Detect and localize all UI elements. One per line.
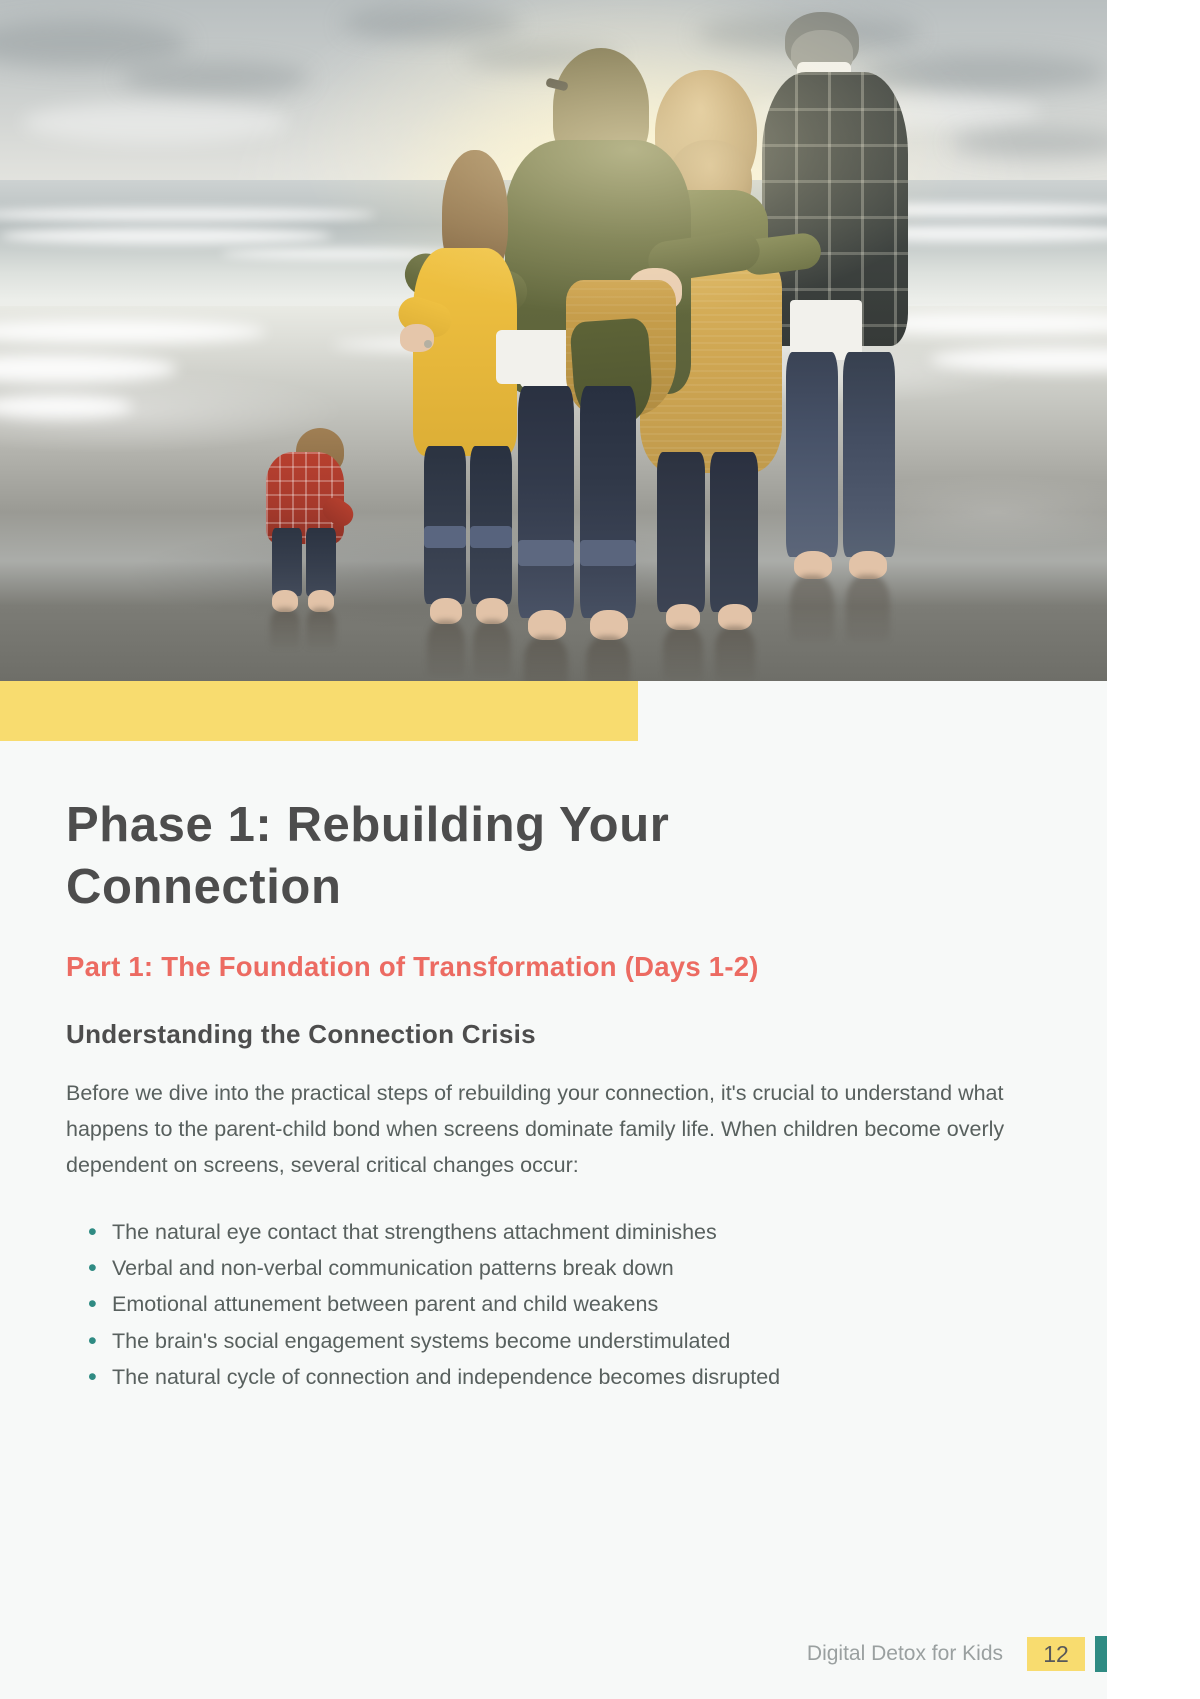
content-area: Phase 1: Rebuilding Your Connection Part… bbox=[66, 795, 1041, 1395]
page-sheet: Phase 1: Rebuilding Your Connection Part… bbox=[0, 0, 1107, 1699]
footer-book-title: Digital Detox for Kids bbox=[807, 1642, 1003, 1666]
list-item: The natural cycle of connection and inde… bbox=[88, 1359, 1041, 1395]
jeans-left bbox=[518, 386, 574, 618]
reflection bbox=[524, 636, 568, 681]
jeans-right bbox=[710, 452, 758, 612]
jeans-right bbox=[470, 446, 512, 604]
list-item: Emotional attunement between parent and … bbox=[88, 1286, 1041, 1322]
page-footer: Digital Detox for Kids 12 bbox=[0, 1630, 1107, 1678]
page-title: Phase 1: Rebuilding Your Connection bbox=[66, 795, 826, 918]
jeans-right bbox=[580, 386, 636, 618]
list-item: The natural eye contact that strengthens… bbox=[88, 1214, 1041, 1250]
white-shirt bbox=[496, 330, 540, 384]
accent-band-yellow bbox=[0, 681, 638, 741]
hero-image bbox=[0, 0, 1107, 681]
jeans-left bbox=[424, 446, 466, 604]
reflection bbox=[790, 575, 834, 641]
cloud bbox=[863, 54, 1107, 91]
cloud bbox=[952, 129, 1107, 156]
white-tee bbox=[790, 300, 862, 360]
reflection bbox=[306, 608, 336, 648]
ring bbox=[424, 340, 432, 348]
page-root: Phase 1: Rebuilding Your Connection Part… bbox=[0, 0, 1200, 1699]
jeans-right bbox=[306, 528, 336, 596]
jeans-cuff bbox=[518, 540, 574, 566]
reflection bbox=[270, 608, 300, 648]
reflection bbox=[663, 626, 703, 680]
section-heading: Understanding the Connection Crisis bbox=[66, 1018, 1041, 1052]
reflection bbox=[715, 626, 755, 680]
reflection bbox=[846, 575, 890, 641]
cloud bbox=[22, 102, 288, 143]
reflection bbox=[427, 620, 465, 676]
crisis-bullet-list: The natural eye contact that strengthens… bbox=[66, 1214, 1041, 1396]
jeans-left bbox=[657, 452, 705, 612]
footer-accent-bar bbox=[1095, 1636, 1107, 1672]
intro-paragraph: Before we dive into the practical steps … bbox=[66, 1075, 1038, 1184]
page-subtitle: Part 1: The Foundation of Transformation… bbox=[66, 949, 1016, 986]
cloud bbox=[343, 7, 520, 41]
jeans-cuff bbox=[470, 526, 512, 548]
reflection bbox=[473, 620, 511, 676]
page-number-badge: 12 bbox=[1027, 1637, 1085, 1671]
jeans-cuff bbox=[424, 526, 466, 548]
reflection bbox=[586, 636, 630, 681]
jeans-left bbox=[272, 528, 302, 596]
jeans-cuff bbox=[580, 540, 636, 566]
jeans-left bbox=[786, 352, 838, 557]
list-item: Verbal and non-verbal communication patt… bbox=[88, 1250, 1041, 1286]
list-item: The brain's social engagement systems be… bbox=[88, 1323, 1041, 1359]
jeans-right bbox=[843, 352, 895, 557]
